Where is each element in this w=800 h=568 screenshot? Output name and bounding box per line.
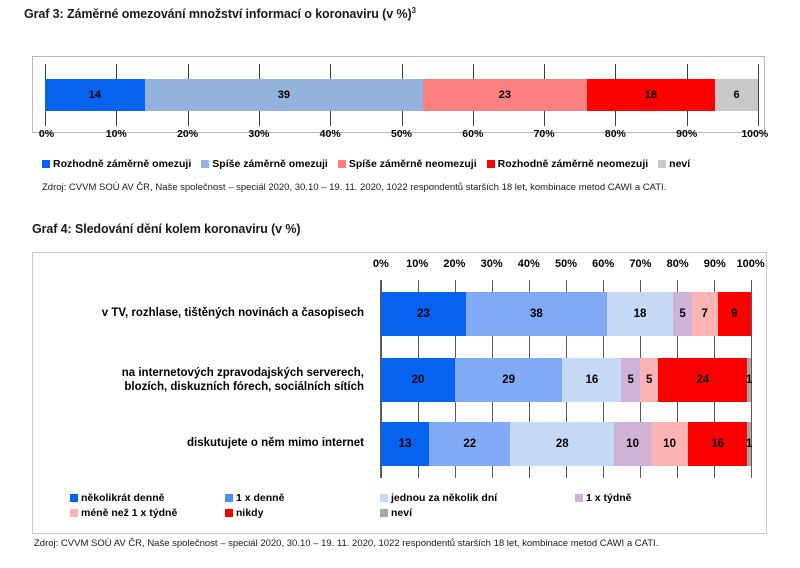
- chart-4-category-label: v TV, rozhlase, tištěných novinách a čas…: [34, 306, 364, 320]
- chart-4-segment: 1: [747, 358, 751, 402]
- chart-4-segment: 13: [381, 422, 429, 466]
- legend-item[interactable]: 1 x týdně: [575, 492, 632, 504]
- chart-4-segment: 23: [381, 292, 466, 336]
- legend-item[interactable]: Rozhodně záměrně omezuji: [42, 158, 191, 170]
- axis-tick-label: 20%: [443, 258, 465, 270]
- axis-tick-label: 40%: [518, 258, 540, 270]
- legend-swatch-icon: [380, 494, 388, 502]
- chart-4-segment: 16: [562, 358, 621, 402]
- chart-4-bar-row: 233818579: [381, 292, 751, 336]
- chart-4-bar-rows: 233818579202916552411322281010161: [381, 280, 751, 478]
- chart-4-x-axis: 0%10%20%30%40%50%60%70%80%90%100%: [380, 258, 752, 276]
- axis-tick-label: 60%: [592, 258, 614, 270]
- axis-tick-label: 50%: [391, 128, 412, 140]
- chart-4-source-note: Zdroj: CVVM SOÚ AV ČR, Naše společnost –…: [34, 538, 658, 549]
- legend-swatch-icon: [70, 494, 78, 502]
- legend-swatch-icon: [338, 160, 346, 168]
- axis-tick-label: 70%: [629, 258, 651, 270]
- legend-label: Rozhodně záměrně omezuji: [53, 158, 191, 170]
- chart-4-category-label: na internetových zpravodajských serverec…: [34, 366, 364, 394]
- axis-tick-label: 70%: [534, 128, 555, 140]
- legend-swatch-icon: [575, 494, 583, 502]
- legend-label: neví: [669, 158, 690, 170]
- chart-3-title-footnote: 3: [412, 6, 416, 15]
- label-line: na internetových zpravodajských serverec…: [34, 366, 364, 380]
- axis-tick-label: 10%: [406, 258, 428, 270]
- chart-3-x-axis: 0%10%20%30%40%50%60%70%80%90%100%: [45, 128, 758, 144]
- report-page: Graf 3: Záměrné omezování množství infor…: [0, 0, 800, 568]
- chart-4-plot-area: 233818579202916552411322281010161: [380, 280, 752, 478]
- chart-4-segment: 7: [692, 292, 718, 336]
- chart-3-title: Graf 3: Záměrné omezování množství infor…: [24, 6, 416, 21]
- chart-3-legend: Rozhodně záměrně omezujiSpíše záměrně om…: [42, 158, 782, 170]
- legend-item[interactable]: jednou za několik dní: [380, 492, 497, 504]
- chart-4-bar-row: 1322281010161: [381, 422, 751, 466]
- legend-swatch-icon: [225, 509, 233, 517]
- gridline: [758, 64, 759, 126]
- axis-tick-label: 100%: [737, 258, 765, 270]
- axis-tick-label: 80%: [667, 258, 689, 270]
- legend-swatch-icon: [658, 160, 666, 168]
- legend-item[interactable]: neví: [380, 507, 412, 519]
- legend-label: několikrát denně: [81, 492, 164, 504]
- chart-4-bar-row: 20291655241: [381, 358, 751, 402]
- legend-item[interactable]: několikrát denně: [70, 492, 164, 504]
- legend-label: jednou za několik dní: [391, 492, 497, 504]
- legend-swatch-icon: [487, 160, 495, 168]
- chart-4-segment: 20: [381, 358, 455, 402]
- axis-tick-label: 10%: [106, 128, 127, 140]
- chart-4-segment: 24: [658, 358, 747, 402]
- axis-tick-label: 0%: [39, 128, 54, 140]
- axis-tick-label: 40%: [320, 128, 341, 140]
- legend-label: 1 x týdně: [586, 492, 632, 504]
- legend-item[interactable]: 1 x denně: [225, 492, 284, 504]
- chart-4-segment: 5: [621, 358, 640, 402]
- legend-label: Rozhodně záměrně neomezuji: [498, 158, 649, 170]
- chart-4-segment: 1: [747, 422, 751, 466]
- label-line: diskutujete o něm mimo internet: [34, 436, 364, 450]
- chart-4-category-labels: v TV, rozhlase, tištěných novinách a čas…: [34, 280, 364, 478]
- chart-3-stacked-bar: 143923186: [45, 79, 758, 111]
- label-line: v TV, rozhlase, tištěných novinách a čas…: [34, 306, 364, 320]
- legend-label: 1 x denně: [236, 492, 284, 504]
- chart-4-segment: 38: [466, 292, 607, 336]
- legend-label: nikdy: [236, 507, 263, 519]
- chart-3-plot-area: 143923186: [45, 64, 758, 126]
- legend-swatch-icon: [225, 494, 233, 502]
- axis-tick-label: 50%: [555, 258, 577, 270]
- legend-item[interactable]: Rozhodně záměrně neomezuji: [487, 158, 649, 170]
- chart-4-segment: 29: [455, 358, 562, 402]
- axis-tick-label: 60%: [462, 128, 483, 140]
- legend-label: Spíše záměrně omezuji: [212, 158, 328, 170]
- chart-3-segment: 18: [587, 79, 715, 111]
- legend-swatch-icon: [201, 160, 209, 168]
- legend-item[interactable]: nikdy: [225, 507, 263, 519]
- legend-item[interactable]: neví: [658, 158, 690, 170]
- legend-swatch-icon: [42, 160, 50, 168]
- chart-3-source-note: Zdroj: CVVM SOÚ AV ČR, Naše společnost –…: [42, 182, 666, 193]
- legend-label: neví: [391, 507, 412, 519]
- axis-tick-label: 30%: [481, 258, 503, 270]
- axis-tick-label: 20%: [177, 128, 198, 140]
- chart-3-segment: 23: [423, 79, 587, 111]
- legend-item[interactable]: Spíše záměrně neomezuji: [338, 158, 477, 170]
- chart-3-segment: 39: [145, 79, 423, 111]
- legend-item[interactable]: méně než 1 x týdně: [70, 507, 177, 519]
- chart-4-legend: několikrát denně1 x dennějednou za někol…: [70, 490, 770, 520]
- legend-item[interactable]: Spíše záměrně omezuji: [201, 158, 328, 170]
- legend-label: Spíše záměrně neomezuji: [349, 158, 477, 170]
- chart-4-segment: 18: [607, 292, 674, 336]
- legend-label: méně než 1 x týdně: [81, 507, 177, 519]
- chart-4-segment: 10: [614, 422, 651, 466]
- chart-4-segment: 5: [673, 292, 692, 336]
- chart-4-segment: 28: [510, 422, 614, 466]
- axis-tick-label: 80%: [605, 128, 626, 140]
- chart-3-segment: 14: [45, 79, 145, 111]
- legend-swatch-icon: [70, 509, 78, 517]
- chart-4-title-text: Graf 4: Sledování dění kolem koronaviru …: [32, 222, 301, 236]
- chart-4-segment: 10: [651, 422, 688, 466]
- chart-4-segment: 5: [640, 358, 659, 402]
- chart-4-segment: 22: [429, 422, 510, 466]
- chart-4-category-label: diskutujete o něm mimo internet: [34, 436, 364, 450]
- legend-row: několikrát denně1 x dennějednou za někol…: [70, 490, 770, 505]
- chart-3-segment: 6: [715, 79, 758, 111]
- axis-tick-label: 90%: [704, 258, 726, 270]
- chart-3-title-text: Graf 3: Záměrné omezování množství infor…: [24, 7, 412, 21]
- legend-row: méně než 1 x týdněnikdyneví: [70, 505, 770, 520]
- axis-tick-label: 0%: [373, 258, 389, 270]
- chart-4-segment: 16: [688, 422, 747, 466]
- axis-tick-label: 30%: [248, 128, 269, 140]
- label-line: blozích, diskuzních fórech, sociálních s…: [34, 380, 364, 394]
- chart-4-segment: 9: [718, 292, 751, 336]
- axis-tick-label: 100%: [741, 128, 768, 140]
- legend-swatch-icon: [380, 509, 388, 517]
- axis-tick-label: 90%: [676, 128, 697, 140]
- chart-4-title: Graf 4: Sledování dění kolem koronaviru …: [32, 222, 301, 236]
